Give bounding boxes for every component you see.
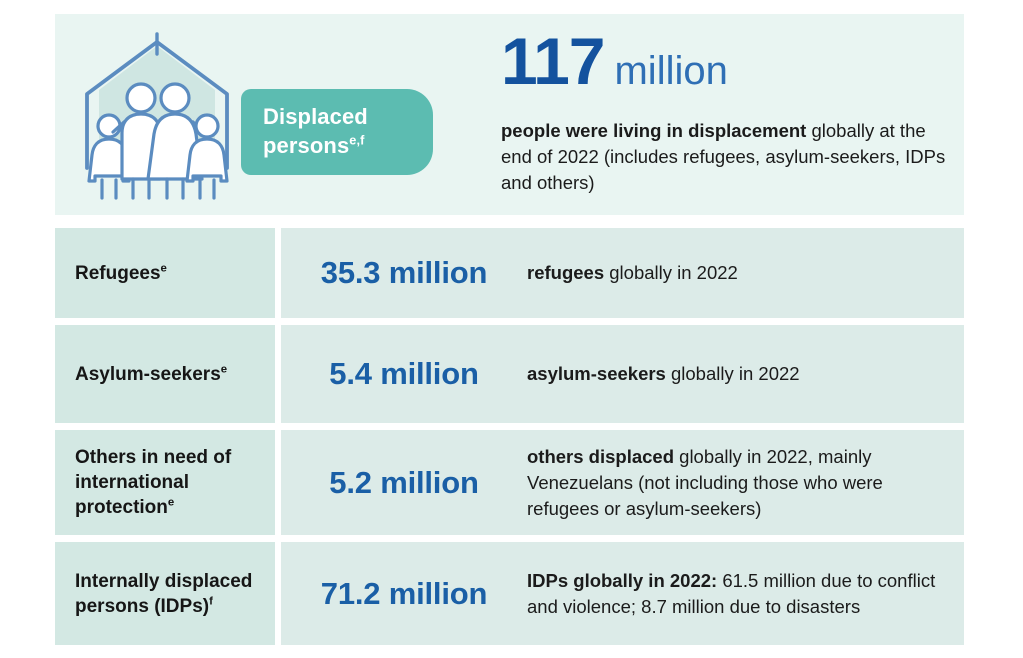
headline-block: 117million people were living in displac…	[501, 24, 951, 196]
row-description: others displaced globally in 2022, mainl…	[527, 444, 964, 522]
badge-label: Displaced personse,f	[263, 102, 433, 160]
row-value: 5.4 million	[281, 356, 527, 392]
row-description-rest: globally in 2022	[666, 363, 800, 384]
row-label-text: Others in need of international protecti…	[75, 447, 231, 518]
headline-description: people were living in displacement globa…	[501, 118, 946, 196]
row-description-bold: asylum-seekers	[527, 363, 666, 384]
row-value: 35.3 million	[281, 255, 527, 291]
row-label-text: Asylum-seekers	[75, 364, 221, 385]
table-row: Asylum-seekerse 5.4 million asylum-seeke…	[55, 325, 964, 423]
family-in-house-icon	[67, 28, 247, 200]
headline-number-row: 117million	[501, 24, 951, 108]
table-row: Internally displaced persons (IDPs)f 71.…	[55, 542, 964, 645]
row-label-cell: Internally displaced persons (IDPs)f	[55, 542, 275, 645]
row-description-rest: globally in 2022	[604, 262, 738, 283]
row-label-superscript: f	[209, 595, 213, 607]
row-value-cell: 5.2 million others displaced globally in…	[281, 430, 964, 535]
row-label-cell: Refugeese	[55, 228, 275, 318]
row-label-superscript: e	[168, 497, 174, 509]
row-description-bold: others displaced	[527, 446, 674, 467]
row-value: 71.2 million	[281, 576, 527, 612]
headline-description-bold: people were living in displacement	[501, 120, 806, 141]
row-description: asylum-seekers globally in 2022	[527, 361, 964, 387]
row-label-cell: Others in need of international protecti…	[55, 430, 275, 535]
row-label: Others in need of international protecti…	[75, 445, 275, 520]
row-label-text: Refugees	[75, 263, 161, 284]
row-label-text: Internally displaced persons (IDPs)	[75, 571, 252, 617]
infographic-sheet: Displaced personse,f 117million people w…	[0, 0, 1023, 658]
row-value-cell: 71.2 million IDPs globally in 2022: 61.5…	[281, 542, 964, 645]
badge-line-1: Displaced	[263, 104, 368, 129]
row-description-bold: IDPs globally in 2022:	[527, 570, 717, 591]
row-value-cell: 35.3 million refugees globally in 2022	[281, 228, 964, 318]
displaced-persons-badge: Displaced personse,f	[241, 89, 433, 175]
total-displaced-unit: million	[604, 34, 727, 108]
row-label: Asylum-seekerse	[75, 362, 227, 387]
row-label-superscript: e	[161, 262, 167, 274]
row-label-superscript: e	[221, 363, 227, 375]
badge-line-2: persons	[263, 133, 349, 158]
row-label-cell: Asylum-seekerse	[55, 325, 275, 423]
table-row: Refugeese 35.3 million refugees globally…	[55, 228, 964, 318]
row-label: Refugeese	[75, 261, 167, 286]
header-panel: Displaced personse,f 117million people w…	[55, 14, 964, 215]
total-displaced-number: 117	[501, 24, 604, 98]
row-description: refugees globally in 2022	[527, 260, 964, 286]
row-label: Internally displaced persons (IDPs)f	[75, 569, 275, 619]
row-description-bold: refugees	[527, 262, 604, 283]
row-value-cell: 5.4 million asylum-seekers globally in 2…	[281, 325, 964, 423]
badge-superscript: e,f	[349, 133, 364, 148]
row-description: IDPs globally in 2022: 61.5 million due …	[527, 568, 964, 620]
row-value: 5.2 million	[281, 465, 527, 501]
table-row: Others in need of international protecti…	[55, 430, 964, 535]
